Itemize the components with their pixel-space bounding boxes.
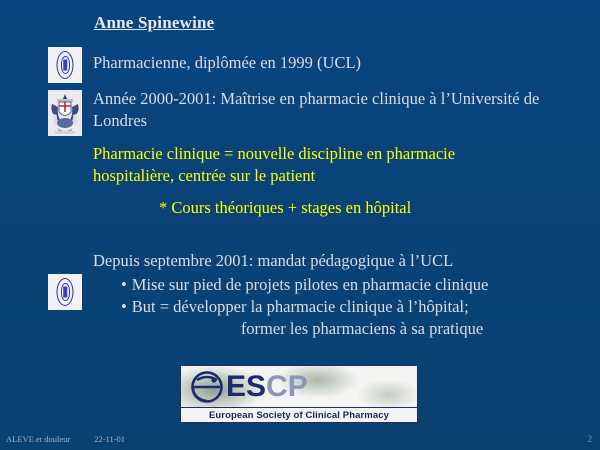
page-title: Anne Spinewine <box>94 13 214 33</box>
list-item: •But = développer la pharmacie clinique … <box>121 296 561 318</box>
bullet-dot-icon: • <box>121 297 127 316</box>
text-line-cours-theoriques: * Cours théoriques + stages en hôpital <box>159 197 559 219</box>
bullet-list: •Mise sur pied de projets pilotes en pha… <box>121 274 561 340</box>
escp-logo: ESCP European Society of Clinical Pharma… <box>180 365 418 423</box>
escp-wordmark-prefix: ES <box>226 370 266 403</box>
footer-date: 22-11-01 <box>94 434 125 444</box>
escp-tagline: European Society of Clinical Pharmacy <box>181 407 417 423</box>
coat-of-arms-icon <box>48 90 82 136</box>
list-item-label: Mise sur pied de projets pilotes en phar… <box>132 275 488 294</box>
university-of-london-coat-of-arms <box>48 90 82 136</box>
escp-wordmark: ESCP <box>226 366 308 407</box>
text-line-depuis-septembre: Depuis septembre 2001: mandat pédagogiqu… <box>93 250 543 272</box>
text-line-pharmacienne: Pharmacienne, diplômée en 1999 (UCL) <box>93 52 573 74</box>
footer-label: ALEVE et douleur <box>6 434 70 444</box>
ucl-seal-icon <box>57 51 74 79</box>
page-number: 2 <box>588 434 593 444</box>
footer: ALEVE et douleur22-11-01 <box>6 434 125 444</box>
slide-canvas: Anne Spinewine Pharmacienne, diplômée en… <box>0 0 600 450</box>
list-item: •Mise sur pied de projets pilotes en pha… <box>121 274 561 296</box>
escp-emblem-icon <box>187 368 227 406</box>
ucl-seal-logo-top <box>48 47 82 83</box>
text-line-annee: Année 2000-2001: Maîtrise en pharmacie c… <box>93 88 579 132</box>
escp-logo-top: ESCP <box>181 366 417 407</box>
ucl-seal-logo-bottom <box>48 274 82 310</box>
escp-wordmark-suffix: CP <box>266 370 308 403</box>
text-line-pharmacie-clinique: Pharmacie clinique = nouvelle discipline… <box>93 143 523 187</box>
list-item-label: But = développer la pharmacie clinique à… <box>132 297 469 316</box>
list-item-continuation: former les pharmaciens à sa pratique <box>121 318 561 340</box>
bullet-dot-icon: • <box>121 275 127 294</box>
ucl-seal-icon <box>57 278 74 306</box>
